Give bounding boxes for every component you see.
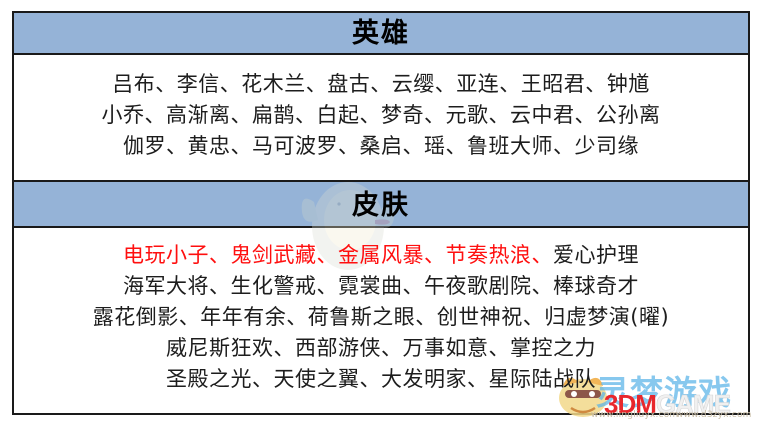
hero-line-2: 小乔、高渐离、扁鹊、白起、梦奇、元歌、云中君、公孙离 [14, 100, 748, 131]
page-root: 英雄 吕布、李信、花木兰、盘古、云缨、亚连、王昭君、钟馗 小乔、高渐离、扁鹊、白… [0, 0, 762, 425]
hero-line-3: 伽罗、黄忠、马可波罗、桑启、瑶、鲁班大师、少司缘 [14, 131, 748, 162]
hero-header-title: 英雄 [14, 13, 748, 47]
hero-list-cell: 吕布、李信、花木兰、盘古、云缨、亚连、王昭君、钟馗 小乔、高渐离、扁鹊、白起、梦… [14, 55, 748, 182]
skin-line-5: 圣殿之光、天使之翼、大发明家、星际陆战队 [14, 364, 748, 395]
skin-line-2: 海军大将、生化警戒、霓裳曲、午夜歌剧院、棒球奇才 [14, 271, 748, 302]
skin-section-header: 皮肤 [14, 182, 748, 228]
skin-line-1-highlight: 电玩小子、鬼剑武藏、金属风暴、节奏热浪、 [123, 243, 553, 267]
skin-line-4: 威尼斯狂欢、西部游侠、万事如意、掌控之力 [14, 333, 748, 364]
hero-section-header: 英雄 [14, 13, 748, 55]
skin-line-1-normal: 爱心护理 [553, 243, 639, 267]
hero-line-1: 吕布、李信、花木兰、盘古、云缨、亚连、王昭君、钟馗 [14, 69, 748, 100]
skin-line-1: 电玩小子、鬼剑武藏、金属风暴、节奏热浪、爱心护理 [14, 240, 748, 271]
skin-list-cell: 电玩小子、鬼剑武藏、金属风暴、节奏热浪、爱心护理 海军大将、生化警戒、霓裳曲、午… [14, 228, 748, 413]
content-table: 英雄 吕布、李信、花木兰、盘古、云缨、亚连、王昭君、钟馗 小乔、高渐离、扁鹊、白… [12, 11, 750, 415]
skin-line-3: 露花倒影、年年有余、荷鲁斯之眼、创世神祝、归虚梦演(曜) [14, 302, 748, 333]
skin-header-title: 皮肤 [14, 182, 748, 219]
